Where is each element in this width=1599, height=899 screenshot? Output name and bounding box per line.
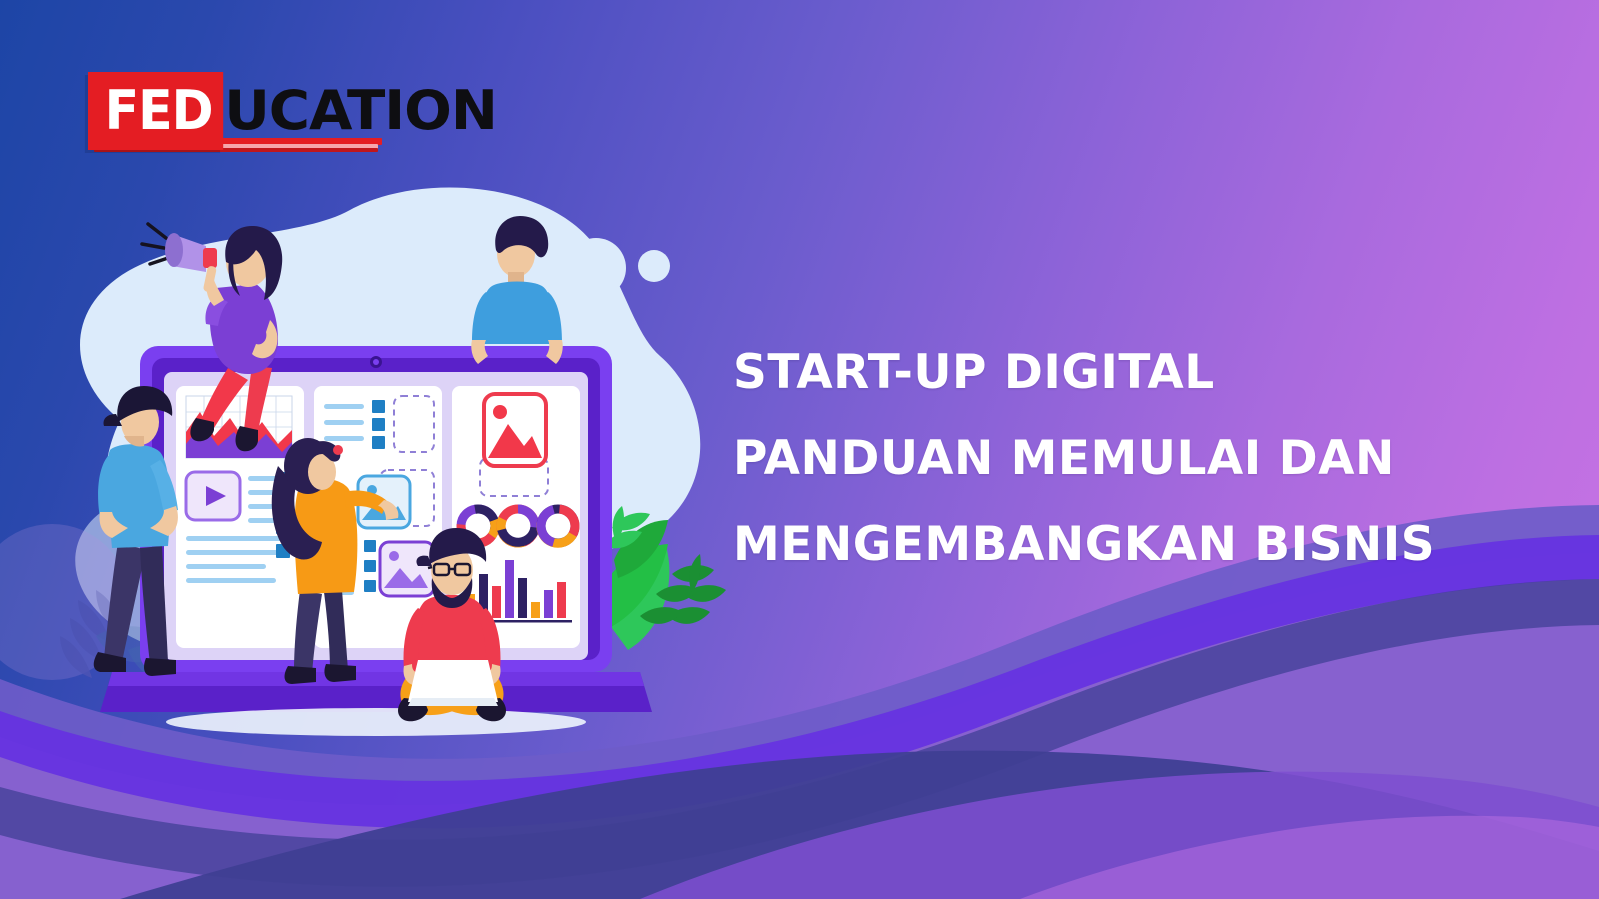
plant-right-green [596, 506, 726, 650]
banner-stage: FED UCATION [0, 0, 1599, 899]
headline-line-3: MENGEMBANGKAN BISNIS [733, 502, 1533, 588]
hero-illustration [0, 150, 760, 770]
headline: START-UP DIGITAL PANDUAN MEMULAI DAN MEN… [733, 330, 1533, 588]
headline-line-2: PANDUAN MEMULAI DAN [733, 416, 1533, 502]
logo-fed-text: FED [88, 72, 223, 150]
headline-line-1: START-UP DIGITAL [733, 330, 1533, 416]
screen-panels [176, 386, 580, 648]
